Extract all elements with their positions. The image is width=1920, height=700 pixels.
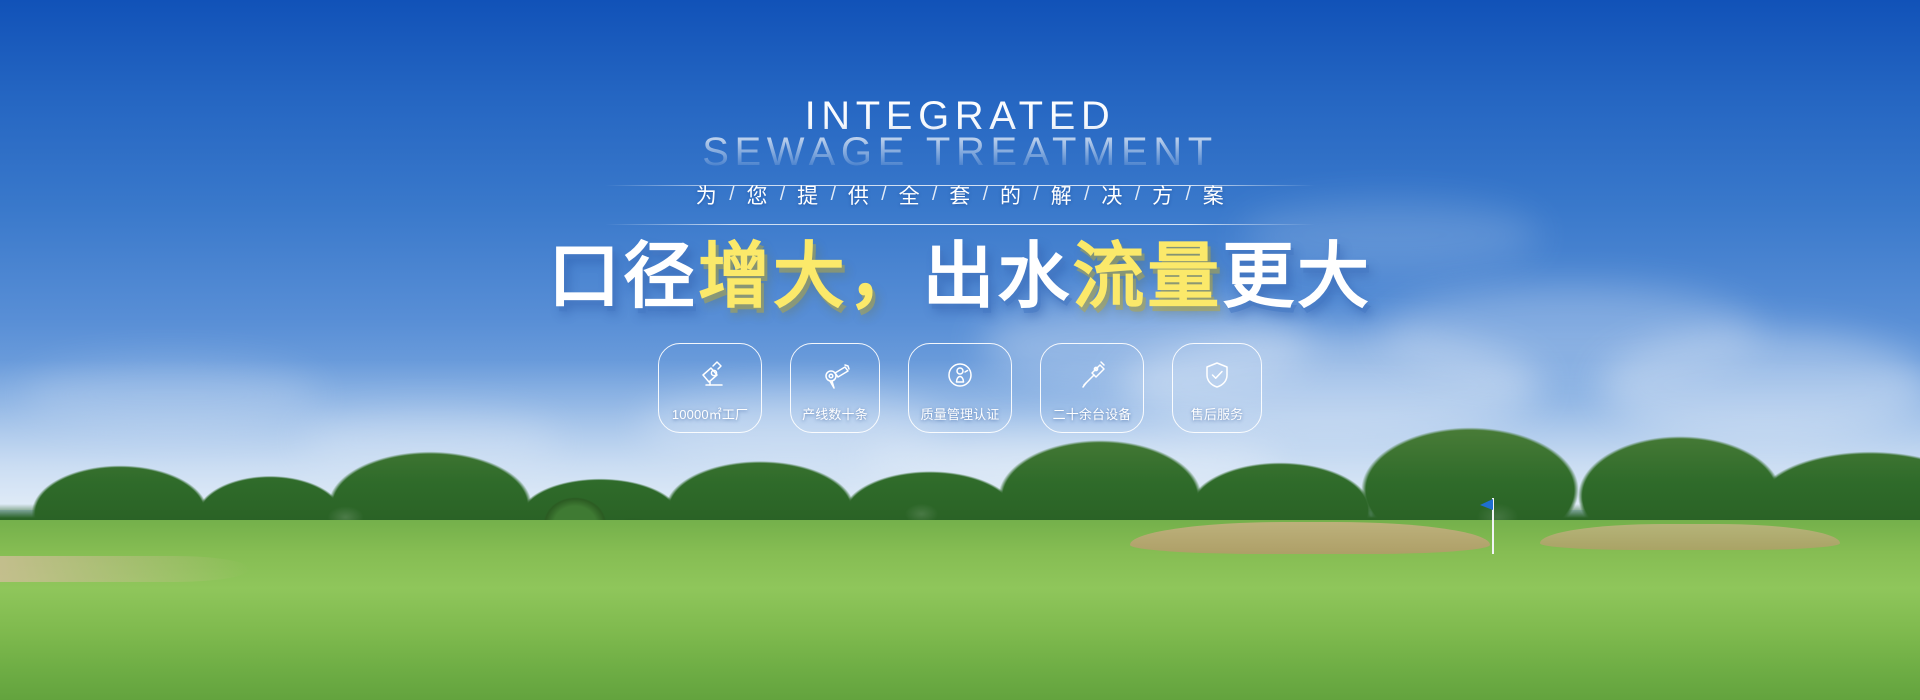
hero-banner: INTEGRATED SEWAGE TREATMENT 为/您/提/供/全/套/… [0,0,1920,700]
feature-badge-list: 10000㎡工厂产线数十条质量管理认证二十余台设备售后服务 [658,343,1262,433]
feature-badge[interactable]: 产线数十条 [790,343,880,433]
banner-content: INTEGRATED SEWAGE TREATMENT 为/您/提/供/全/套/… [0,0,1920,700]
eyebrow-line-2: SEWAGE TREATMENT [702,132,1218,172]
medal-icon [943,358,977,392]
feature-badge[interactable]: 10000㎡工厂 [658,343,762,433]
wrench-icon [1075,358,1109,392]
subtitle-char: 解 [1039,180,1084,210]
subtitle-char: 套 [937,180,982,210]
feature-badge[interactable]: 售后服务 [1172,343,1262,433]
subtitle-char: 决 [1089,180,1134,210]
subtitle-char: 案 [1191,180,1236,210]
subtitle-char: 提 [785,180,830,210]
subtitle-char: 您 [734,180,779,210]
subtitle-char: 的 [988,180,1033,210]
subtitle-char: 方 [1140,180,1185,210]
feature-badge-label: 产线数十条 [802,404,868,423]
subtitle-char: 全 [887,180,932,210]
headline-segment: 流量 [1072,239,1222,317]
feature-badge[interactable]: 质量管理认证 [908,343,1012,433]
divider-bottom [605,224,1315,225]
headline-segment: 出水 [923,239,1073,317]
headline-segment: 增大， [698,239,923,317]
feature-badge-label: 10000㎡工厂 [672,404,748,423]
eyebrow-english: INTEGRATED SEWAGE TREATMENT [702,96,1218,172]
feature-badge[interactable]: 二十余台设备 [1040,343,1144,433]
microscope-icon [693,358,727,392]
subtitle-row: 为/您/提/供/全/套/的/解/决/方/案 [684,180,1236,210]
telescope-icon [818,358,852,392]
feature-badge-label: 二十余台设备 [1053,404,1132,423]
feature-badge-label: 质量管理认证 [921,404,1000,423]
feature-badge-label: 售后服务 [1191,404,1244,423]
headline-segment: 口径 [548,239,698,317]
headline: 口径增大，出水流量更大 [548,239,1372,317]
headline-segment: 更大 [1222,239,1372,317]
shield-check-icon [1200,358,1234,392]
subtitle-char: 供 [836,180,881,210]
subtitle-char: 为 [684,180,729,210]
